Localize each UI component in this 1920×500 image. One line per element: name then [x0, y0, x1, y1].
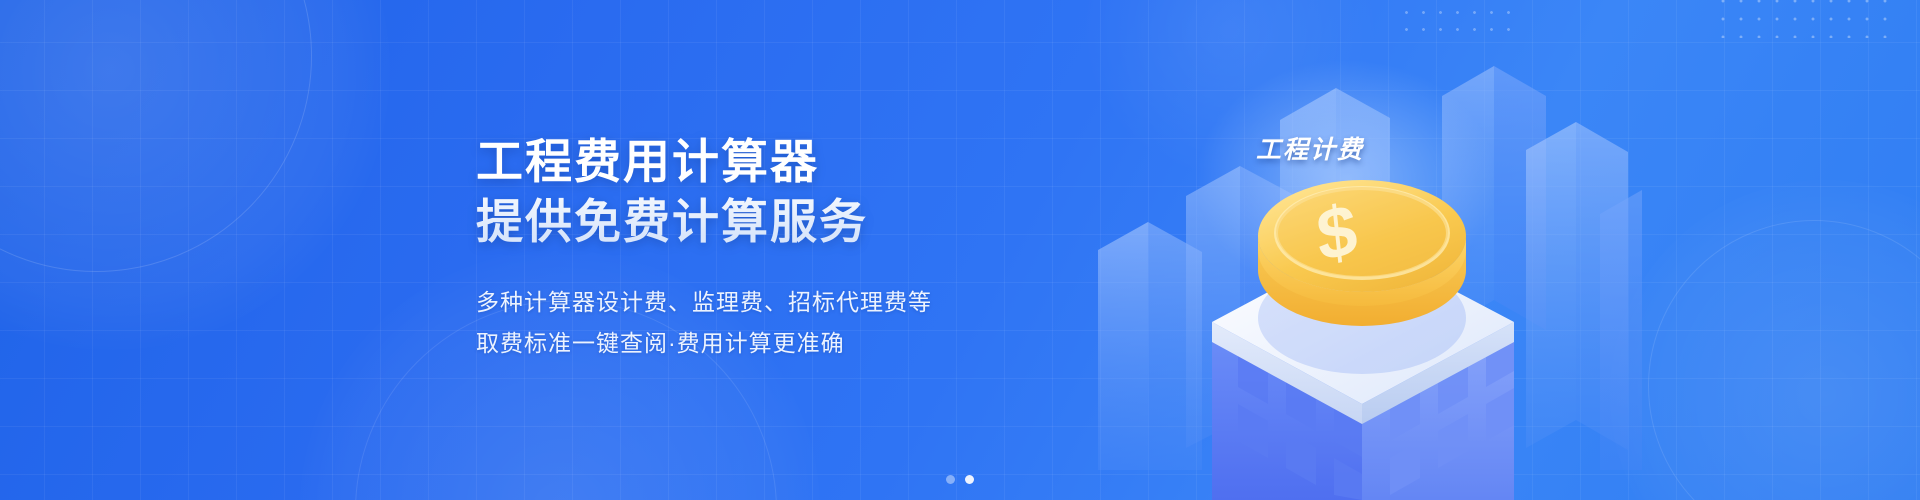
hero-banner: 工程费用计算器 提供免费计算服务 多种计算器设计费、监理费、招标代理费等 取费标…	[0, 0, 1920, 500]
headline-line-2: 提供免费计算服务	[476, 192, 1116, 252]
illustration-badge-label: 工程计费	[1256, 130, 1364, 166]
subtitle-line-2: 取费标准一键查阅·费用计算更准确	[476, 323, 1116, 364]
gold-coin-icon: $	[1258, 180, 1466, 374]
banner-subtitle: 多种计算器设计费、监理费、招标代理费等 取费标准一键查阅·费用计算更准确	[476, 282, 1116, 364]
coin-dollar-symbol: $	[1313, 189, 1361, 277]
banner-copy: 工程费用计算器 提供免费计算服务 多种计算器设计费、监理费、招标代理费等 取费标…	[476, 132, 1116, 364]
carousel-dot-1[interactable]	[946, 475, 955, 484]
page-title: 工程费用计算器 提供免费计算服务	[476, 132, 1116, 252]
carousel-dot-2[interactable]	[965, 475, 974, 484]
isometric-city-illustration: $	[1090, 0, 1650, 500]
banner-illustration: $ 工程计费	[1090, 0, 1650, 500]
headline-line-1: 工程费用计算器	[476, 132, 1116, 192]
decorative-dot-matrix-right	[1714, 0, 1894, 38]
subtitle-line-1: 多种计算器设计费、监理费、招标代理费等	[476, 282, 1116, 323]
carousel-dots[interactable]	[0, 475, 1920, 484]
